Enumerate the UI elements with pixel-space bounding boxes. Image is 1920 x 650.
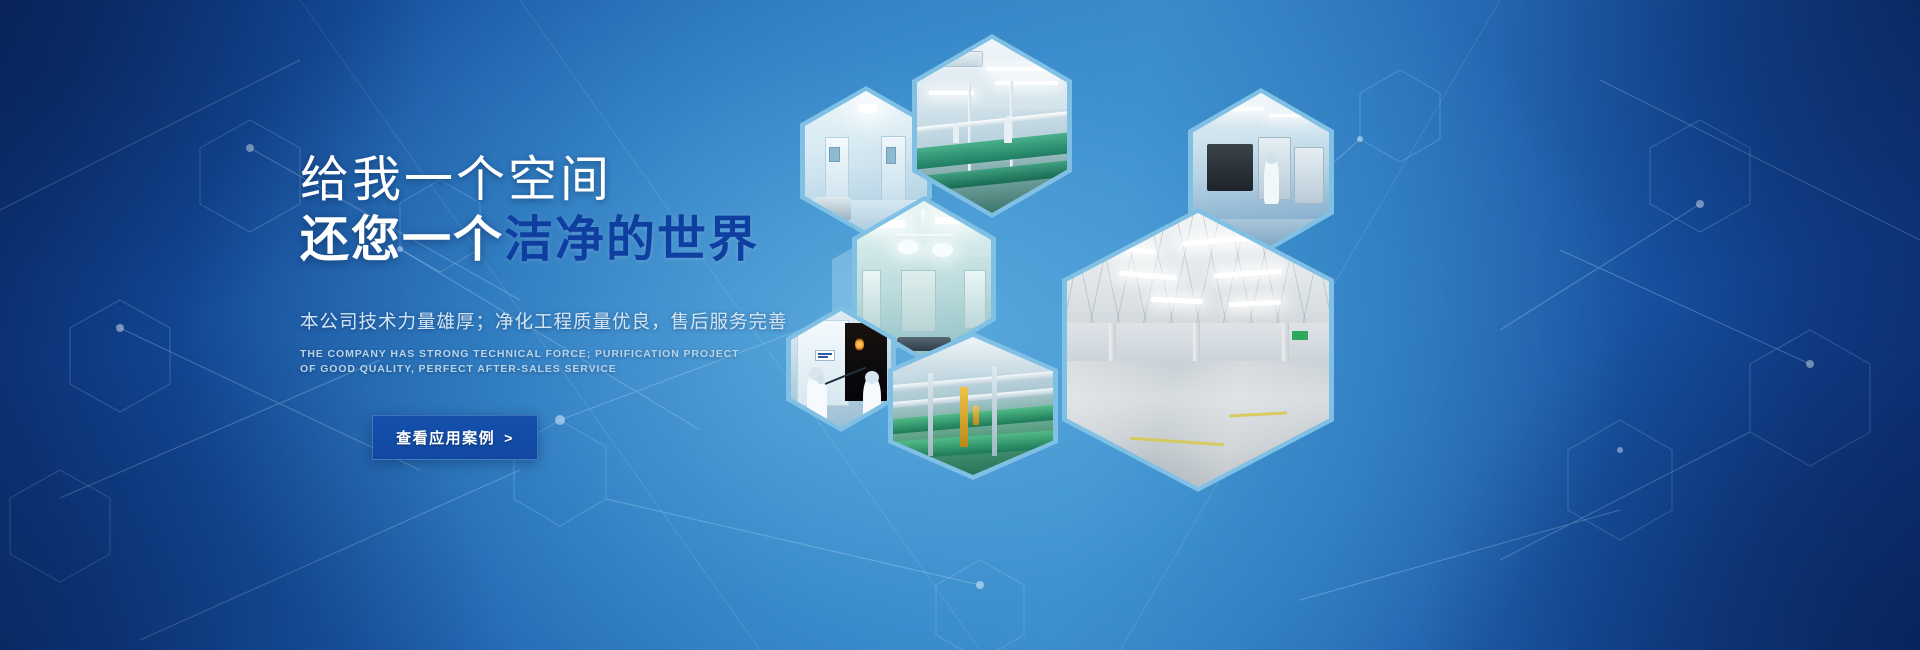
hex-photo (1067, 213, 1329, 487)
chevron-right-icon: > (504, 430, 514, 446)
hex-image-cleanroom-hall[interactable] (1062, 208, 1334, 492)
cta-label: 查看应用案例 (396, 427, 495, 448)
headline-line-2-accent: 洁净的世界 (504, 213, 759, 267)
hero-banner: 给我一个空间 还您一个洁净的世界 本公司技术力量雄厚；净化工程质量优良，售后服务… (0, 0, 1920, 650)
hero-subtitle: 本公司技术力量雄厚；净化工程质量优良，售后服务完善 (300, 308, 1060, 334)
english-line-1: THE COMPANY HAS STRONG TECHNICAL FORCE; … (300, 347, 1060, 362)
hero-english-tagline: THE COMPANY HAS STRONG TECHNICAL FORCE; … (300, 347, 1060, 377)
hero-copy-block: 给我一个空间 还您一个洁净的世界 本公司技术力量雄厚；净化工程质量优良，售后服务… (300, 155, 1060, 460)
english-line-2: OF GOOD QUALITY, PERFECT AFTER-SALES SER… (300, 362, 1060, 377)
headline-line-2: 还您一个洁净的世界 (300, 215, 1060, 266)
scene-cleanroom-hall (1067, 213, 1329, 487)
view-case-studies-button[interactable]: 查看应用案例 > (372, 415, 538, 460)
headline-line-1: 给我一个空间 (300, 155, 1060, 206)
headline-line-2-white: 还您一个 (300, 213, 504, 267)
